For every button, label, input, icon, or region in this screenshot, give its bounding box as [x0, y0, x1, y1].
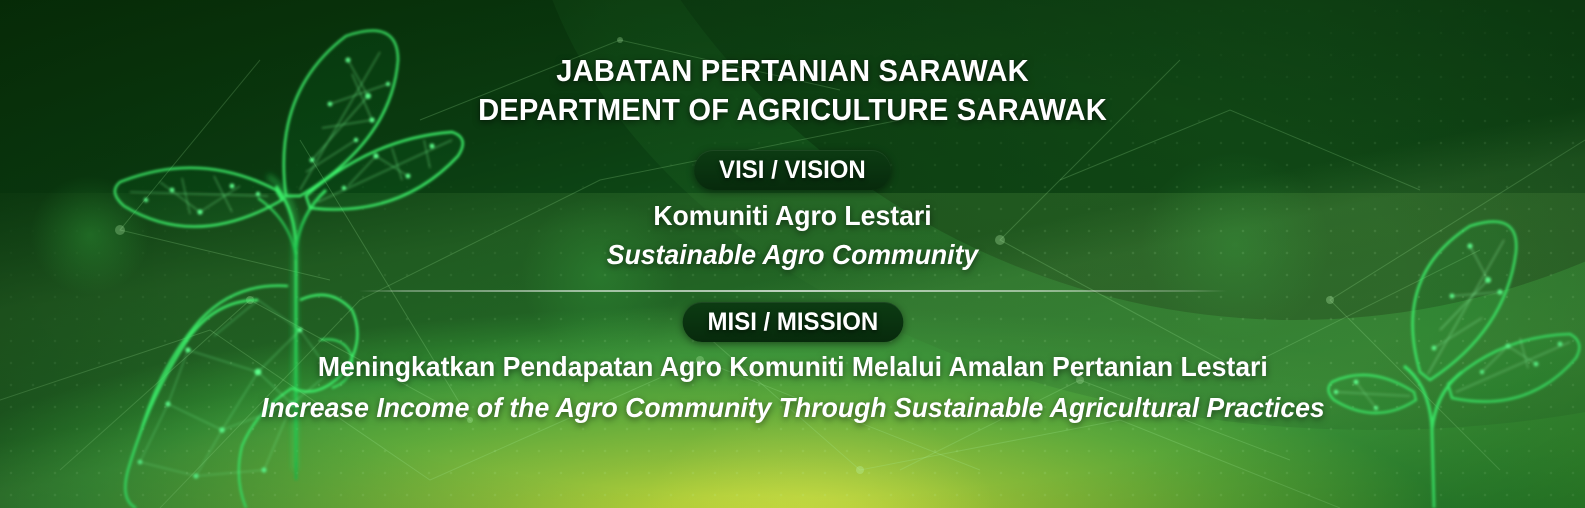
mission-badge: MISI / MISSION: [682, 302, 903, 342]
mission-statement-bm: Meningkatkan Pendapatan Agro Komuniti Me…: [261, 346, 1325, 388]
vision-mission-banner: JABATAN PERTANIAN SARAWAK DEPARTMENT OF …: [0, 0, 1585, 508]
section-divider: [359, 290, 1227, 292]
org-name-bm: JABATAN PERTANIAN SARAWAK: [478, 52, 1107, 89]
vision-statement-bm: Komuniti Agro Lestari: [607, 196, 978, 236]
vision-section: VISI / VISION Komuniti Agro Lestari Sust…: [597, 150, 988, 274]
organization-title: JABATAN PERTANIAN SARAWAK DEPARTMENT OF …: [458, 52, 1127, 131]
mission-section: MISI / MISSION Meningkatkan Pendapatan A…: [233, 302, 1353, 428]
org-name-en: DEPARTMENT OF AGRICULTURE SARAWAK: [478, 89, 1107, 131]
vision-statement-en: Sustainable Agro Community: [607, 236, 978, 274]
vision-badge: VISI / VISION: [694, 150, 891, 190]
mission-statement-en: Increase Income of the Agro Community Th…: [261, 388, 1325, 428]
